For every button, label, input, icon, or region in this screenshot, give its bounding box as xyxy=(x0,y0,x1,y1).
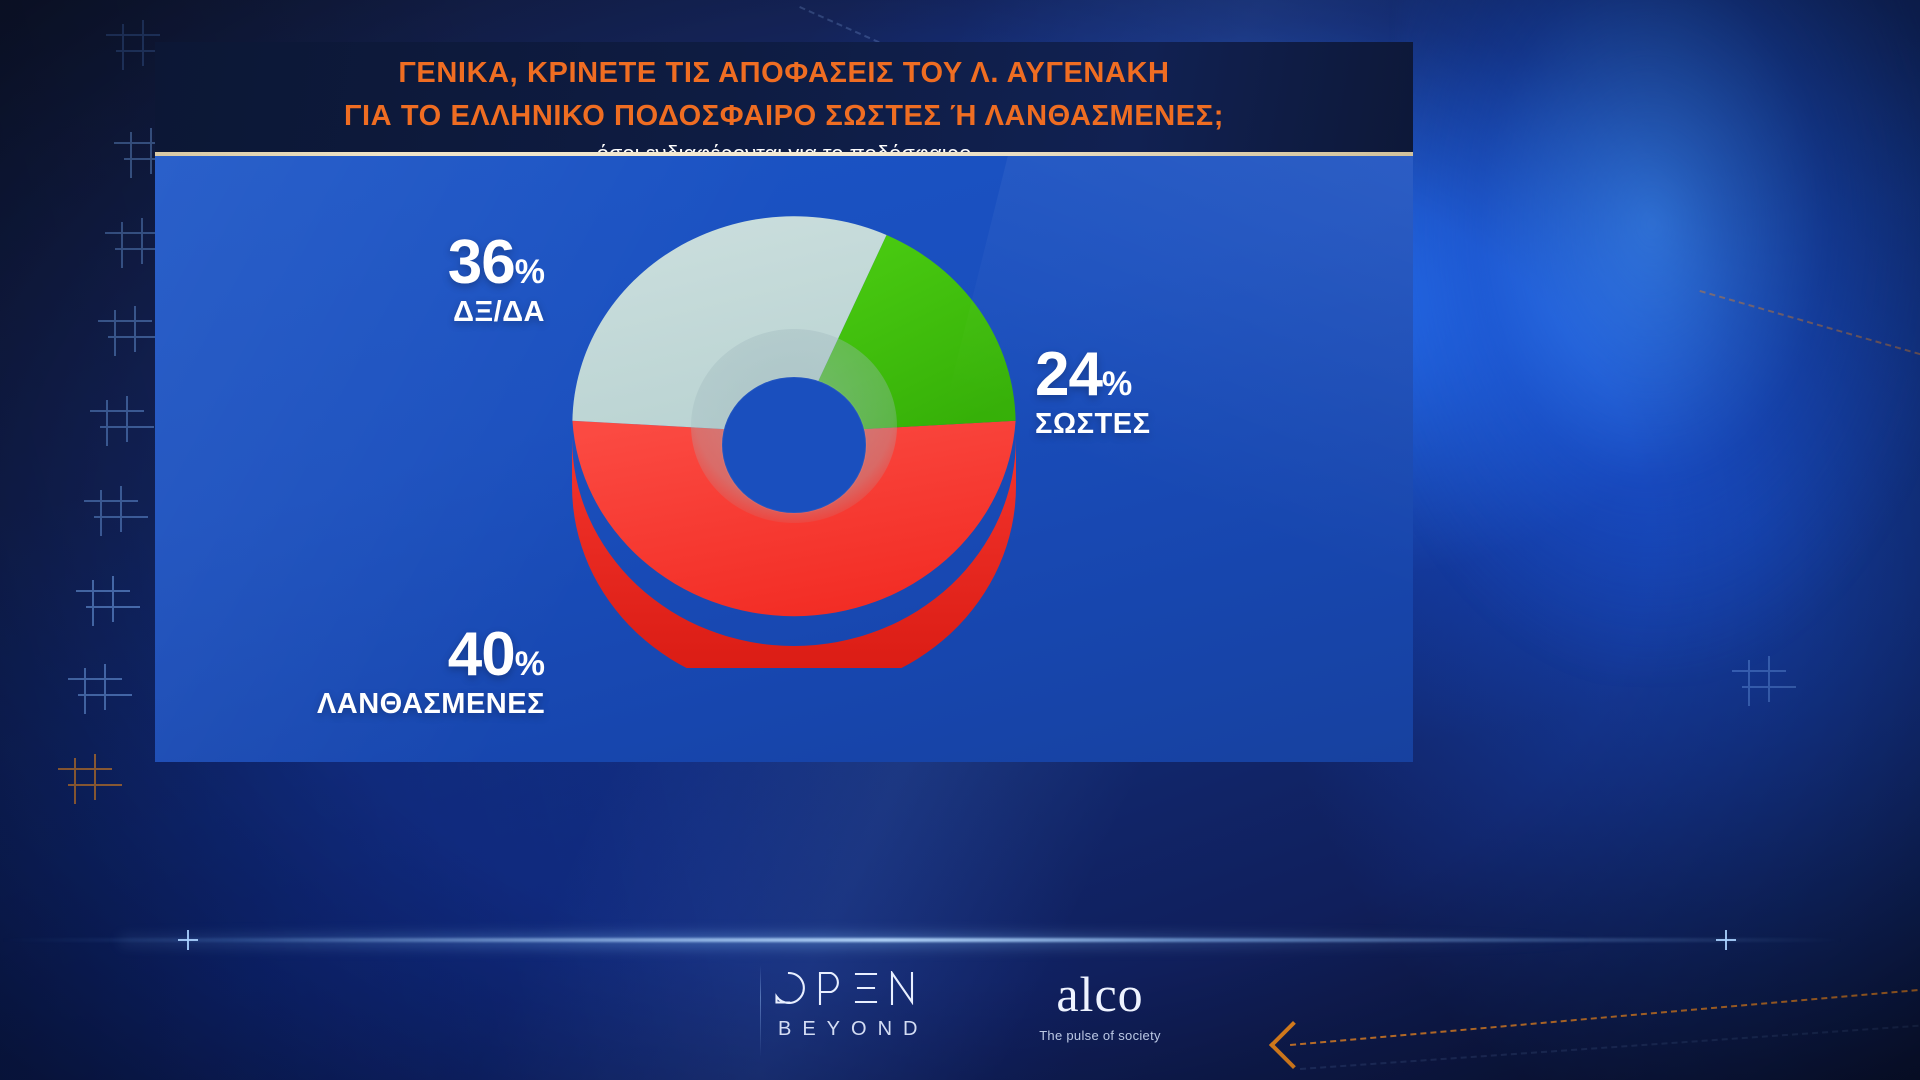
slice-label-wrong: 40% ΛΑΝΘΑΣΜΕΝΕΣ xyxy=(195,626,545,719)
page-title-line1: ΓΕΝΙΚΑ, ΚΡΙΝΕΤΕ ΤΙΣ ΑΠΟΦΑΣΕΙΣ ΤΟΥ Λ. ΑΥΓ… xyxy=(155,42,1413,88)
chart-area: 36% ΔΞ/ΔΑ 24% ΣΩΣΤΕΣ 40% ΛΑΝΘΑΣΜΕΝΕΣ xyxy=(155,156,1413,762)
percent-sign: % xyxy=(515,645,545,683)
screen: ΓΕΝΙΚΑ, ΚΡΙΝΕΤΕ ΤΙΣ ΑΠΟΦΑΣΕΙΣ ΤΟΥ Λ. ΑΥΓ… xyxy=(0,0,1920,1080)
slice-label-correct: 24% ΣΩΣΤΕΣ xyxy=(1035,346,1355,439)
alco-logo: alco The pulse of society xyxy=(1000,969,1200,1043)
page-title-line2: ΓΙΑ ΤΟ ΕΛΛΗΝΙΚΟ ΠΟΔΟΣΦΑΙΡΟ ΣΩΣΤΕΣ Ή ΛΑΝΘ… xyxy=(155,88,1413,131)
bottom-tick-left-icon xyxy=(178,930,198,950)
panel-header: ΓΕΝΙΚΑ, ΚΡΙΝΕΤΕ ΤΙΣ ΑΠΟΦΑΣΕΙΣ ΤΟΥ Λ. ΑΥΓ… xyxy=(155,42,1413,152)
slice-value-dontknow: 36 xyxy=(448,228,515,297)
bottom-tick-right-icon xyxy=(1716,930,1736,950)
slice-name-wrong: ΛΑΝΘΑΣΜΕΝΕΣ xyxy=(195,689,545,719)
open-letter-o-icon xyxy=(772,971,806,1005)
slice-label-dontknow: 36% ΔΞ/ΔΑ xyxy=(235,234,545,327)
open-beyond-logo: BEYOND xyxy=(772,967,928,1041)
slice-name-correct: ΣΩΣΤΕΣ xyxy=(1035,409,1355,439)
poll-panel: ΓΕΝΙΚΑ, ΚΡΙΝΕΤΕ ΤΙΣ ΑΠΟΦΑΣΕΙΣ ΤΟΥ Λ. ΑΥΓ… xyxy=(155,42,1413,762)
open-letter-p-icon xyxy=(817,971,843,1005)
bottom-glow-line xyxy=(0,938,1920,942)
open-letter-n-icon xyxy=(889,971,915,1005)
open-wordmark xyxy=(772,967,928,1009)
open-letter-e-icon xyxy=(854,971,878,1005)
percent-sign: % xyxy=(515,253,545,291)
alco-wordmark: alco xyxy=(1000,969,1200,1019)
slice-name-dontknow: ΔΞ/ΔΑ xyxy=(235,297,545,327)
alco-tagline: The pulse of society xyxy=(1000,1028,1200,1043)
donut-chart-svg xyxy=(559,198,1029,668)
slice-value-correct: 24 xyxy=(1035,340,1102,409)
percent-sign: % xyxy=(1102,365,1132,403)
open-beyond-subtext: BEYOND xyxy=(772,1018,928,1041)
footer-logos: BEYOND alco The pulse of society xyxy=(0,955,1920,1075)
slice-value-wrong: 40 xyxy=(448,620,515,689)
donut-chart: 36% ΔΞ/ΔΑ 24% ΣΩΣΤΕΣ 40% ΛΑΝΘΑΣΜΕΝΕΣ xyxy=(155,156,1413,762)
